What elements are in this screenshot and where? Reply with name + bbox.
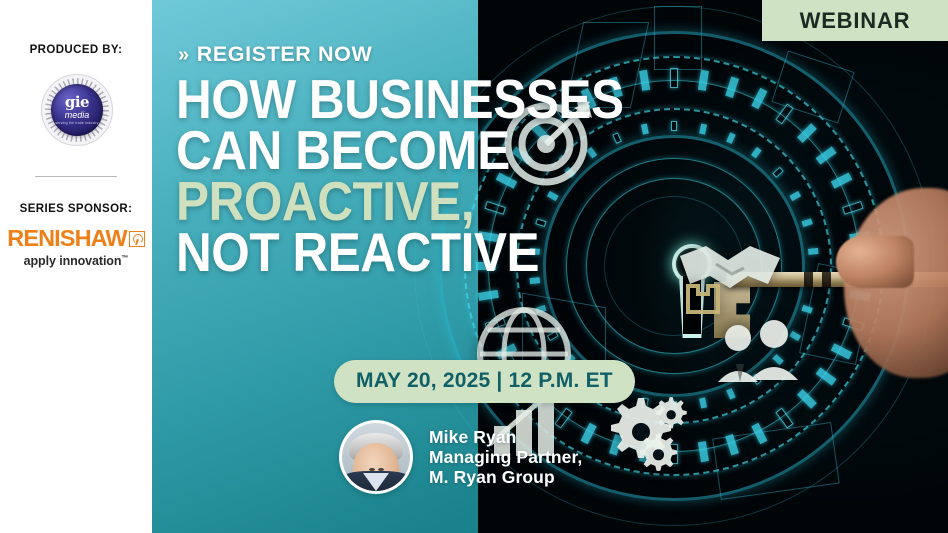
logo-wordmark: gie <box>65 95 89 110</box>
logo-tagline: serving the trade industry <box>55 122 98 125</box>
logo-subword: media <box>65 111 90 120</box>
renishaw-logo: RENISHAW apply innovation™ <box>7 227 144 268</box>
register-now-eyebrow[interactable]: » REGISTER NOW <box>178 42 372 67</box>
register-now-label: REGISTER NOW <box>197 42 373 67</box>
headline-line-4: NOT REACTIVE <box>176 227 734 278</box>
renishaw-probe-icon <box>129 231 145 247</box>
speaker-details: Mike Ryan Managing Partner, M. Ryan Grou… <box>429 427 582 488</box>
date-time-label: MAY 20, 2025 | 12 P.M. ET <box>356 369 613 392</box>
produced-by-label: PRODUCED BY: <box>30 44 123 56</box>
hero-content: » REGISTER NOW HOW BUSINESSES CAN BECOME… <box>152 0 948 533</box>
webinar-badge-label: WEBINAR <box>800 8 911 34</box>
trademark-symbol: ™ <box>121 254 128 261</box>
double-chevron-icon: » <box>178 45 190 65</box>
series-sponsor-label: SERIES SPONSOR: <box>20 203 133 215</box>
headline: HOW BUSINESSES CAN BECOME PROACTIVE, NOT… <box>176 74 796 279</box>
webinar-promo-graphic: PRODUCED BY: gie media serving the trade… <box>0 0 948 533</box>
sponsor-sidebar: PRODUCED BY: gie media serving the trade… <box>0 0 152 533</box>
headline-line-1: HOW BUSINESSES <box>176 74 734 125</box>
speaker-headshot-image <box>342 423 410 491</box>
speaker-title: Managing Partner, <box>429 447 582 467</box>
speaker-headshot <box>339 420 413 494</box>
speaker-name: Mike Ryan <box>429 427 582 447</box>
date-time-pill: MAY 20, 2025 | 12 P.M. ET <box>334 360 635 403</box>
renishaw-tagline: apply innovation™ <box>24 254 129 268</box>
speaker-block: Mike Ryan Managing Partner, M. Ryan Grou… <box>339 420 582 494</box>
speaker-company: M. Ryan Group <box>429 467 582 487</box>
sidebar-divider <box>35 176 117 177</box>
headline-line-3: PROACTIVE, <box>176 176 734 227</box>
renishaw-tagline-text: apply innovation <box>24 254 122 268</box>
renishaw-wordmark: RENISHAW <box>7 227 126 251</box>
logo-core: gie media serving the trade industry <box>51 84 103 136</box>
gie-media-logo: gie media serving the trade industry <box>32 70 120 150</box>
headline-line-2: CAN BECOME <box>176 125 734 176</box>
webinar-badge: WEBINAR <box>762 0 948 41</box>
hero-panel: » REGISTER NOW HOW BUSINESSES CAN BECOME… <box>152 0 948 533</box>
